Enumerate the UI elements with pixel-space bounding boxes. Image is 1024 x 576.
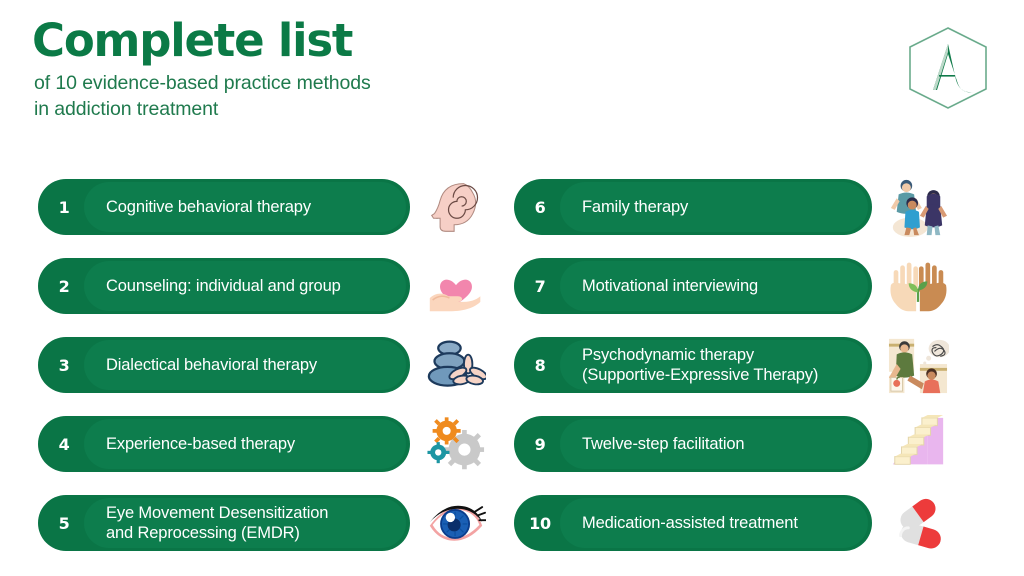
method-number-2: 2 [38,277,90,296]
method-label-3: Dialectical behavioral therapy [106,355,317,375]
method-label-7: Motivational interviewing [582,276,758,296]
method-label-10: Medication-assisted treatment [582,513,798,533]
method-pill-6[interactable]: 6 Family therapy [514,179,872,235]
method-inner-4: Experience-based therapy [84,419,406,469]
method-number-1: 1 [38,198,90,217]
method-inner-2: Counseling: individual and group [84,261,406,311]
method-label-4: Experience-based therapy [106,434,295,454]
methods-board: 1 Cognitive behavioral therapy 2 Counsel… [0,172,1024,572]
hexagon-a-monogram-logo [900,22,996,114]
method-pill-1[interactable]: 1 Cognitive behavioral therapy [38,179,410,235]
method-label-6: Family therapy [582,197,688,217]
list-item: 2 Counseling: individual and group [38,251,518,330]
list-item: 4 Experience-based therapy [38,409,518,488]
list-item: 1 Cognitive behavioral therapy [38,172,518,251]
method-pill-4[interactable]: 4 Experience-based therapy [38,416,410,472]
method-label-2: Counseling: individual and group [106,276,341,296]
method-inner-10: Medication-assisted treatment [560,498,868,548]
page-subtitle: of 10 evidence-based practice methods in… [34,71,592,122]
method-number-5: 5 [38,514,90,533]
method-label-1: Cognitive behavioral therapy [106,197,311,217]
list-item: 5 Eye Movement Desensitization and Repro… [38,488,518,567]
list-item: 9 Twelve-step facilitation [514,409,994,488]
head-with-spiral-mind-icon [424,176,488,238]
list-item: 8 Psychodynamic therapy (Supportive-Expr… [514,330,994,409]
blue-eye-icon [424,492,488,554]
staircase-steps-icon [886,413,950,475]
method-number-6: 6 [514,198,566,217]
list-item: 6 Family therapy [514,172,994,251]
method-number-10: 10 [514,514,566,533]
method-inner-6: Family therapy [560,182,868,232]
method-pill-3[interactable]: 3 Dialectical behavioral therapy [38,337,410,393]
list-item: 10 Medication-assisted treatment [514,488,994,567]
method-pill-9[interactable]: 9 Twelve-step facilitation [514,416,872,472]
two-hands-with-sprout-icon [886,255,950,317]
method-pill-10[interactable]: 10 Medication-assisted treatment [514,495,872,551]
method-pill-5[interactable]: 5 Eye Movement Desensitization and Repro… [38,495,410,551]
method-inner-7: Motivational interviewing [560,261,868,311]
method-pill-8[interactable]: 8 Psychodynamic therapy (Supportive-Expr… [514,337,872,393]
pill-capsules-icon [886,492,950,554]
list-item: 3 Dialectical behavioral therapy [38,330,518,409]
header: Complete list of 10 evidence-based pract… [32,18,592,122]
page-title: Complete list [32,18,592,65]
method-label-5: Eye Movement Desensitization and Reproce… [106,503,328,543]
list-item: 7 Motivational interviewing [514,251,994,330]
method-inner-8: Psychodynamic therapy (Supportive-Expres… [560,340,868,390]
method-inner-3: Dialectical behavioral therapy [84,340,406,390]
method-pill-2[interactable]: 2 Counseling: individual and group [38,258,410,314]
therapy-session-icon [886,334,950,396]
zen-stones-with-lotus-icon [424,334,488,396]
method-inner-9: Twelve-step facilitation [560,419,868,469]
method-number-3: 3 [38,356,90,375]
method-number-7: 7 [514,277,566,296]
method-inner-1: Cognitive behavioral therapy [84,182,406,232]
three-gears-icon [424,413,488,475]
methods-column-left: 1 Cognitive behavioral therapy 2 Counsel… [38,172,518,567]
subtitle-line-1: of 10 evidence-based practice methods [34,71,592,97]
method-number-4: 4 [38,435,90,454]
subtitle-line-2: in addiction treatment [34,97,592,123]
method-pill-7[interactable]: 7 Motivational interviewing [514,258,872,314]
hand-holding-heart-icon [424,255,488,317]
method-label-9: Twelve-step facilitation [582,434,744,454]
method-number-9: 9 [514,435,566,454]
family-group-icon [886,176,950,238]
method-number-8: 8 [514,356,566,375]
methods-column-right: 6 Family therapy [514,172,994,567]
method-label-8: Psychodynamic therapy (Supportive-Expres… [582,345,818,385]
method-inner-5: Eye Movement Desensitization and Reproce… [84,498,406,548]
